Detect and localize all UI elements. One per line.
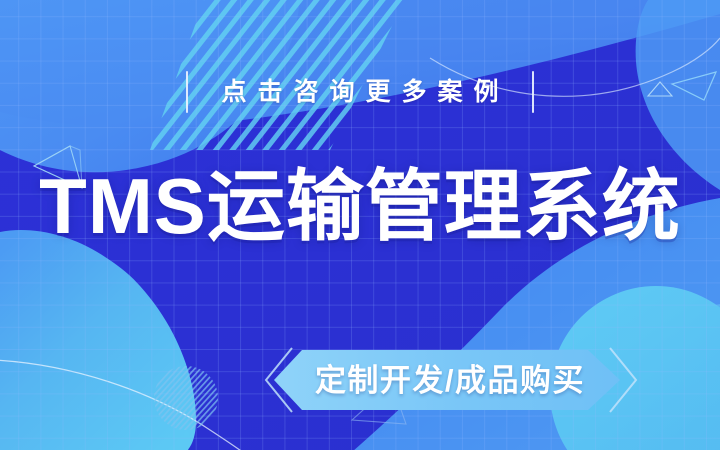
kicker-right-rule [532,71,534,113]
page-title: TMS运输管理系统 [0,150,720,262]
page-title-text: TMS运输管理系统 [39,167,681,245]
kicker-left-rule [186,71,188,113]
striped-circle [154,366,218,430]
promo-banner-root: 点击咨询更多案例 TMS运输管理系统 定制开发/成品购买 [0,0,720,450]
cta-banner-label: 定制开发/成品购买 [258,344,642,416]
cta-banner[interactable]: 定制开发/成品购买 [258,344,642,416]
kicker-text: 点击咨询更多案例 [210,80,509,105]
kicker-row: 点击咨询更多案例 [0,66,720,118]
